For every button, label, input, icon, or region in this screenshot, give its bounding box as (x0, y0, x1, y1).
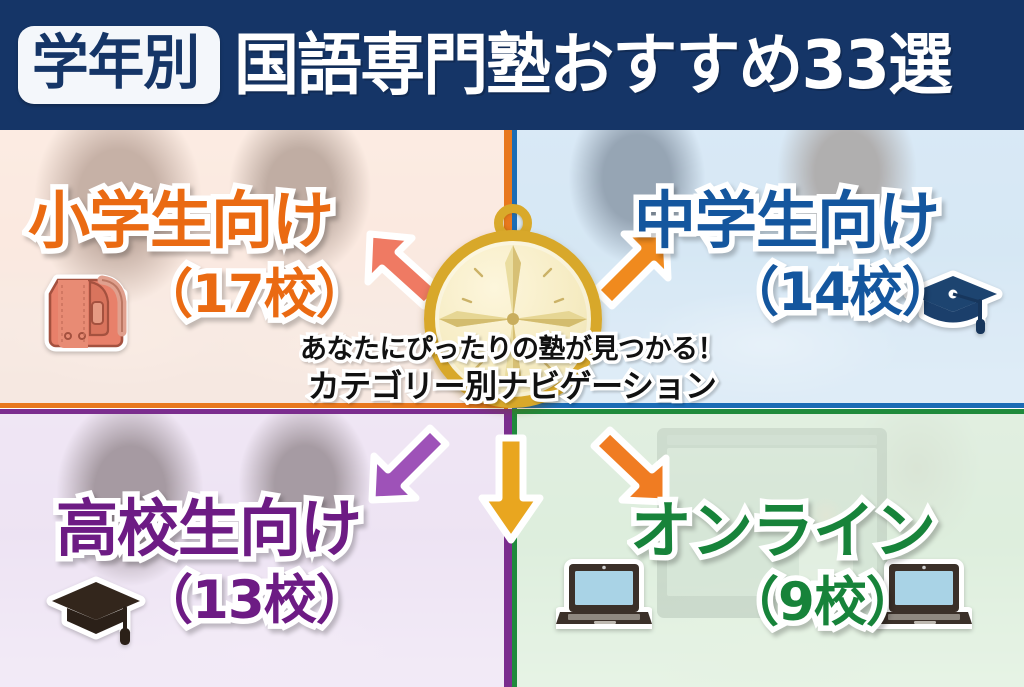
laptop-icon (556, 556, 652, 634)
high-school-label: 高校生向け (56, 498, 361, 560)
grade-level-badge: 学年別 (18, 26, 220, 104)
online-label: オンライン (630, 500, 935, 562)
elementary-label: 小学生向け (28, 190, 333, 252)
compass-dial (424, 230, 602, 408)
online-count: （9校） (726, 576, 918, 629)
header-bar: 学年別 国語専門塾おすすめ33選 (0, 0, 1024, 130)
compass-needle-star (435, 241, 591, 397)
randoseru-backpack-icon (28, 252, 140, 360)
infographic-canvas: 学年別 国語専門塾おすすめ33選 (0, 0, 1024, 687)
junior-high-label: 中学生向け (634, 190, 939, 252)
grade-level-badge-label: 学年別 (32, 32, 199, 94)
junior-high-count: （14校） (726, 266, 954, 319)
elementary-count: （17校） (140, 268, 368, 321)
compass-rose-icon (418, 204, 608, 474)
high-school-count: （13校） (140, 574, 368, 627)
page-title: 国語専門塾おすすめ33選 (234, 30, 951, 100)
graduation-cap-dark-icon (46, 572, 150, 652)
